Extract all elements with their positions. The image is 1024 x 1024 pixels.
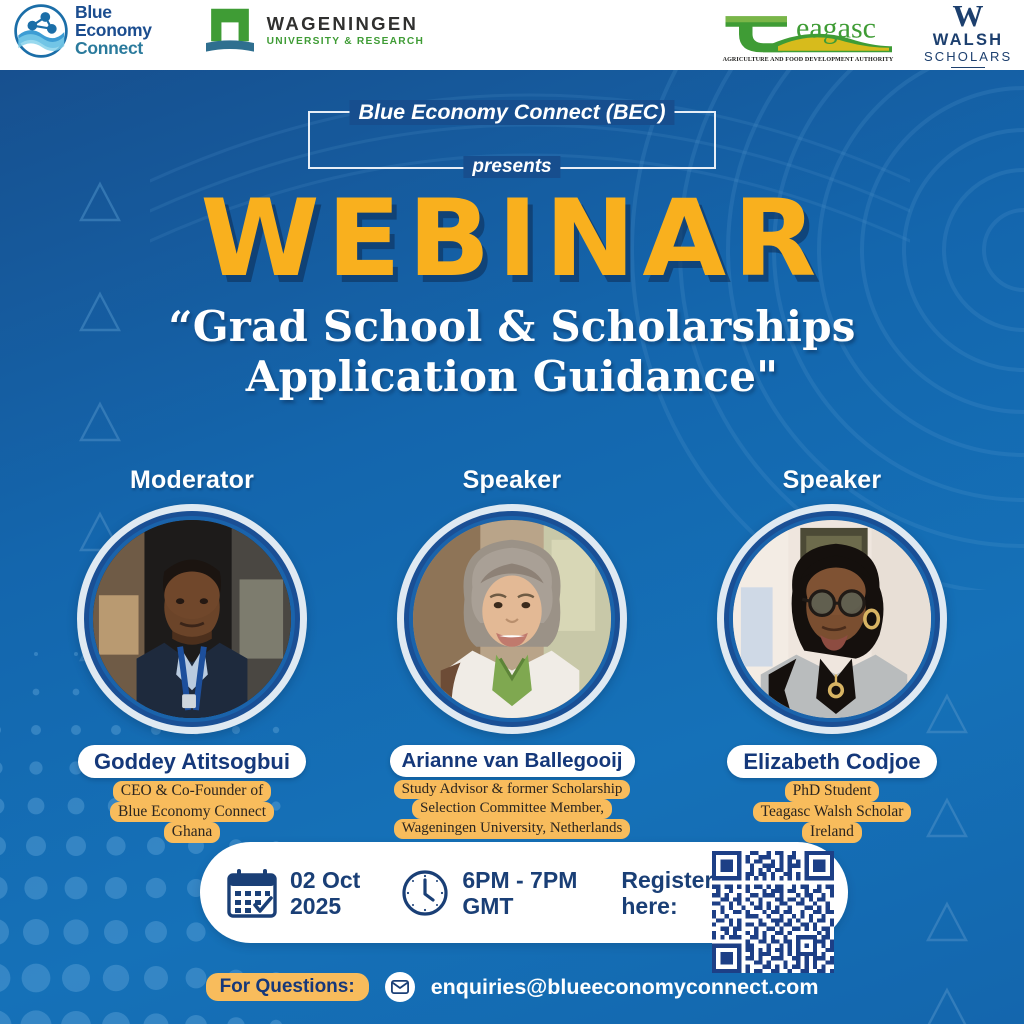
affiliation-line: Study Advisor & former Scholarship	[394, 780, 631, 800]
teagasc-tagline: AGRICULTURE AND FOOD DEVELOPMENT AUTHORI…	[718, 57, 898, 63]
affiliation-line: Ghana	[164, 822, 220, 843]
register-line1: Register	[621, 867, 713, 893]
teagasc-logo: eagasc AGRICULTURE AND FOOD DEVELOPMENT …	[718, 8, 898, 63]
time-block: 6PM - 7PM GMT	[400, 867, 577, 919]
avatar	[77, 504, 307, 734]
person-card: Speaker	[377, 466, 647, 826]
walsh-scholars-logo: W WALSH SCHOLARS	[924, 2, 1012, 68]
walsh-name: WALSH	[924, 31, 1012, 50]
calendar-check-icon	[226, 867, 278, 919]
avatar	[397, 504, 627, 734]
wageningen-tagline: UNIVERSITY & RESEARCH	[267, 36, 424, 47]
person-role: Speaker	[783, 466, 882, 495]
svg-text:eagasc: eagasc	[796, 11, 876, 44]
person-card: Speaker	[697, 466, 967, 826]
envelope-glyph	[391, 980, 409, 994]
logo-group-right: eagasc AGRICULTURE AND FOOD DEVELOPMENT …	[718, 2, 1012, 68]
register-label: Register here:	[621, 867, 713, 919]
affiliation-line: Selection Committee Member,	[412, 799, 612, 819]
teagasc-mark-icon: eagasc	[718, 8, 898, 56]
date-block: 02 Oct 2025	[226, 867, 360, 919]
walsh-initial: W	[924, 2, 1012, 31]
person-affiliation: CEO & Co-Founder of Blue Economy Connect…	[110, 781, 274, 843]
person-card: Moderator	[57, 466, 327, 826]
footer-contact: For Questions: enquiries@blueeconomyconn…	[0, 972, 1024, 1002]
logo-bar: Blue Economy Connect WAGENINGEN UNIVERSI…	[0, 0, 1024, 70]
affiliation-line: Teagasc Walsh Scholar	[753, 802, 912, 823]
avatar-inner-ring	[404, 511, 620, 727]
wageningen-name: WAGENINGEN	[267, 15, 424, 34]
avatar	[717, 504, 947, 734]
person-affiliation: PhD Student Teagasc Walsh Scholar Irelan…	[753, 781, 912, 843]
time-line1: 6PM - 7PM	[462, 867, 577, 893]
portrait-elizabeth-codjoe	[733, 520, 931, 718]
webinar-topic: “Grad School & Scholarships Application …	[0, 302, 1024, 401]
time-line2: GMT	[462, 893, 577, 919]
walsh-subname: SCHOLARS	[924, 49, 1012, 65]
portrait-image	[413, 520, 611, 718]
affiliation-line: Blue Economy Connect	[110, 802, 274, 823]
date-line2: 2025	[290, 893, 360, 919]
person-role: Speaker	[463, 466, 562, 495]
questions-label: For Questions:	[206, 973, 369, 1001]
portrait-image	[93, 520, 291, 718]
poster-body: Blue Economy Connect (BEC) presents WEBI…	[0, 70, 1024, 1024]
portrait-image	[733, 520, 931, 718]
avatar-inner-ring	[84, 511, 300, 727]
person-name: Elizabeth Codjoe	[727, 745, 936, 778]
avatar-inner-ring	[724, 511, 940, 727]
person-name: Arianne van Ballegooij	[390, 745, 635, 777]
speakers-row: Moderator	[0, 466, 1024, 826]
person-name: Goddey Atitsogbui	[78, 745, 306, 778]
register-line2: here:	[621, 893, 713, 919]
envelope-icon	[385, 972, 415, 1002]
bec-word-line3: Connect	[75, 40, 152, 58]
contact-email[interactable]: enquiries@blueeconomyconnect.com	[431, 975, 819, 1000]
qr-code[interactable]	[712, 851, 834, 973]
portrait-arianne-van-ballegooij	[413, 520, 611, 718]
affiliation-line: Wageningen University, Netherlands	[394, 819, 631, 839]
webinar-topic-line2: Application Guidance"	[0, 352, 1024, 402]
event-info-card: 02 Oct 2025 6PM - 7PM GMT Registe	[200, 842, 848, 943]
time-text: 6PM - 7PM GMT	[462, 867, 577, 919]
wageningen-logo: WAGENINGEN UNIVERSITY & RESEARCH	[204, 7, 424, 55]
clock-icon	[400, 868, 450, 918]
qr-code-image	[712, 851, 834, 973]
logo-group-left: Blue Economy Connect WAGENINGEN UNIVERSI…	[14, 4, 424, 58]
presents-word: presents	[463, 156, 560, 178]
presents-banner: Blue Economy Connect (BEC) presents	[308, 111, 716, 169]
walsh-rule	[951, 67, 985, 68]
person-affiliation: Study Advisor & former Scholarship Selec…	[394, 780, 631, 840]
date-text: 02 Oct 2025	[290, 867, 360, 919]
portrait-goddey-atitsogbui	[93, 520, 291, 718]
date-line1: 02 Oct	[290, 867, 360, 893]
bec-network-wave-icon	[14, 4, 68, 58]
bec-wordmark: Blue Economy Connect	[75, 4, 152, 58]
blue-economy-connect-logo: Blue Economy Connect	[14, 4, 152, 58]
affiliation-line: Ireland	[802, 822, 862, 843]
presenter-name: Blue Economy Connect (BEC)	[350, 100, 675, 125]
page-title: WEBINAR	[0, 186, 1024, 292]
person-role: Moderator	[130, 466, 254, 495]
affiliation-line: PhD Student	[785, 781, 880, 802]
affiliation-line: CEO & Co-Founder of	[113, 781, 272, 802]
wageningen-gate-icon	[204, 7, 256, 55]
wageningen-wordmark: WAGENINGEN UNIVERSITY & RESEARCH	[267, 15, 424, 48]
webinar-topic-line1: “Grad School & Scholarships	[0, 302, 1024, 352]
